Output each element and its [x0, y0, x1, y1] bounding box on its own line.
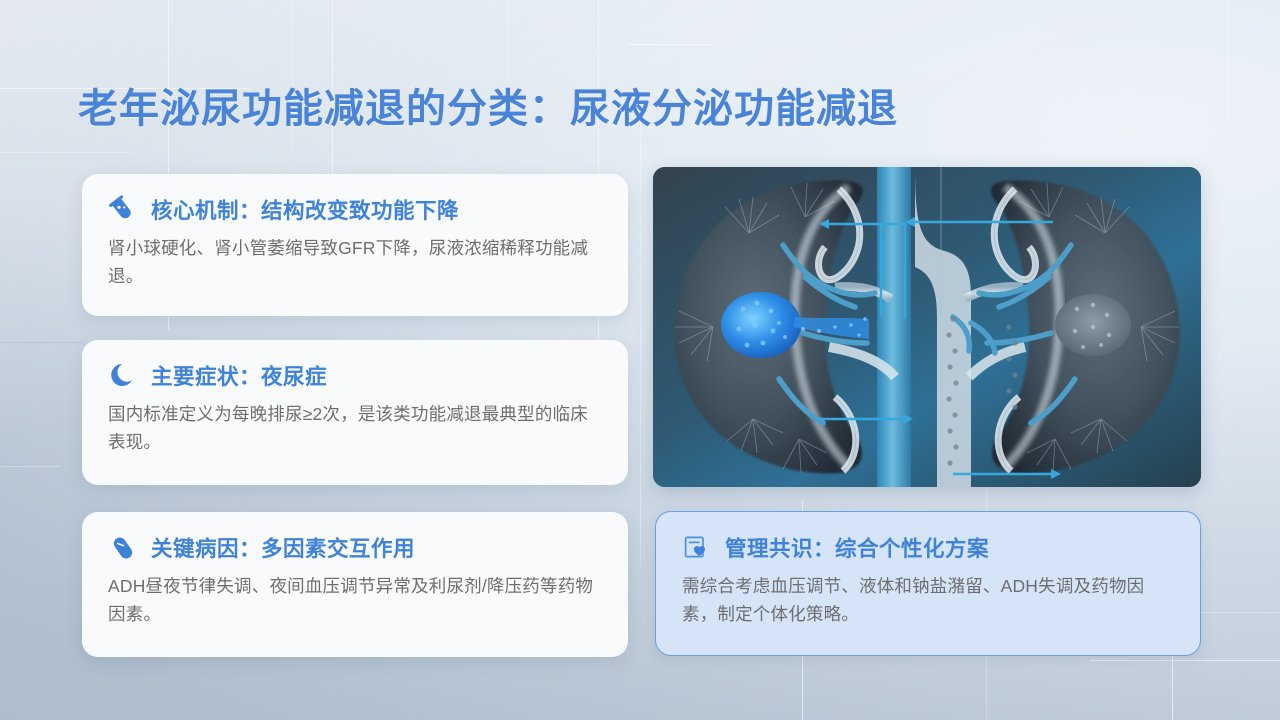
card-header: 关键病因：多因素交互作用 — [108, 532, 602, 563]
test-tube-icon — [108, 195, 138, 225]
card-body-text: 国内标准定义为每晚排尿≥2次，是该类功能减退最典型的临床表现。 — [108, 400, 602, 457]
card-heading: 核心机制：结构改变致功能下降 — [151, 194, 459, 225]
card-header: 核心机制：结构改变致功能下降 — [108, 194, 602, 225]
card-main-symptom: 主要症状：夜尿症 国内标准定义为每晚排尿≥2次，是该类功能减退最典型的临床表现。 — [82, 340, 628, 485]
page-title: 老年泌尿功能减退的分类：尿液分泌功能减退 — [78, 76, 898, 134]
card-header: 主要症状：夜尿症 — [108, 360, 602, 391]
card-heading: 主要症状：夜尿症 — [151, 360, 327, 391]
card-header: 管理共识：综合个性化方案 — [682, 532, 1174, 563]
card-core-mechanism: 核心机制：结构改变致功能下降 肾小球硬化、肾小管萎缩导致GFR下降，尿液浓缩稀释… — [82, 174, 628, 316]
card-heading: 关键病因：多因素交互作用 — [151, 532, 415, 563]
card-body-text: ADH昼夜节律失调、夜间血压调节异常及利尿剂/降压药等药物因素。 — [108, 572, 602, 629]
crescent-moon-icon — [108, 361, 138, 391]
card-body-text: 需综合考虑血压调节、液体和钠盐潴留、ADH失调及药物因素，制定个体化策略。 — [682, 572, 1174, 629]
document-heart-icon — [682, 533, 712, 563]
card-heading: 管理共识：综合个性化方案 — [725, 532, 989, 563]
pill-capsule-icon — [108, 533, 138, 563]
kidney-cross-section-illustration — [653, 167, 1201, 487]
card-key-etiology: 关键病因：多因素交互作用 ADH昼夜节律失调、夜间血压调节异常及利尿剂/降压药等… — [82, 512, 628, 657]
card-management-consensus: 管理共识：综合个性化方案 需综合考虑血压调节、液体和钠盐潴留、ADH失调及药物因… — [655, 511, 1201, 656]
card-body-text: 肾小球硬化、肾小管萎缩导致GFR下降，尿液浓缩稀释功能减退。 — [108, 234, 602, 291]
